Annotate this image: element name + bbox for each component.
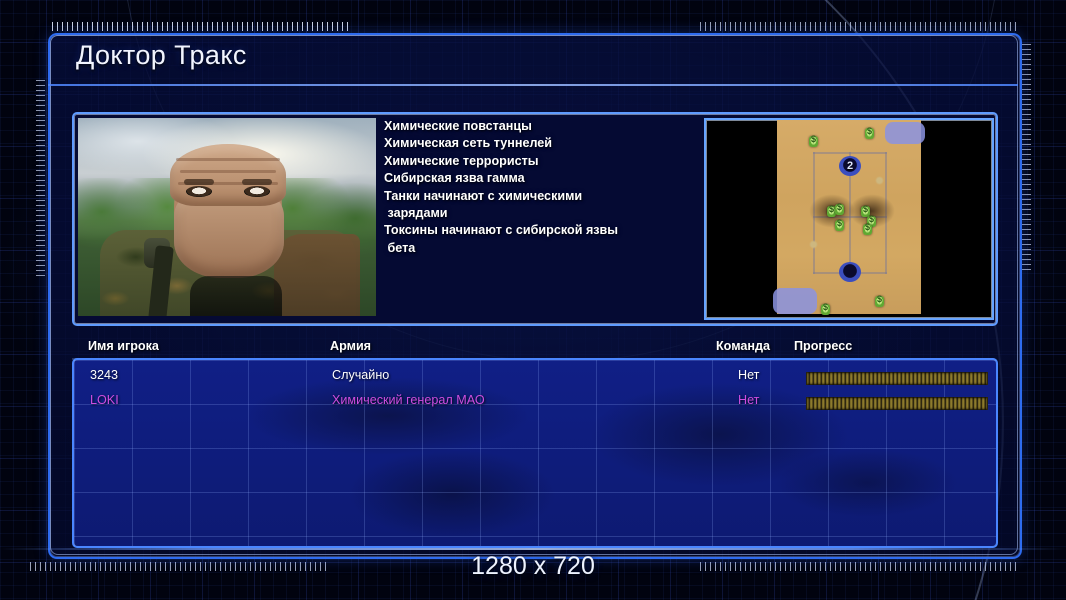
portrait-eyes <box>182 184 276 200</box>
ruler-right <box>1022 44 1031 274</box>
ruler-top-right <box>700 22 1018 31</box>
portrait-shoulder <box>274 234 360 316</box>
minimap-water <box>773 288 817 314</box>
table-row[interactable]: 3243 Случайно Нет <box>74 368 996 390</box>
description-line: Химическая сеть туннелей <box>384 135 696 152</box>
page-title: Доктор Тракс <box>76 40 247 71</box>
footer-divider <box>0 548 1066 550</box>
portrait-eye-right <box>244 186 270 197</box>
resolution-label: 1280 x 720 <box>0 552 1066 581</box>
title-divider <box>48 84 1018 86</box>
description-line: зарядами <box>384 205 696 222</box>
minimap-rock <box>809 240 818 249</box>
portrait-brow-right <box>242 179 272 185</box>
minimap-resource <box>835 204 844 215</box>
minimap-resource <box>865 128 874 139</box>
description-line: Химические террористы <box>384 153 696 170</box>
player-list-panel: 3243 Случайно Нет LOKI Химический генера… <box>72 358 998 548</box>
ruler-left <box>36 80 45 280</box>
minimap-resource <box>875 296 884 307</box>
minimap-start-position-1 <box>839 262 861 282</box>
cell-player-name: LOKI <box>90 393 119 407</box>
portrait-brow-left <box>184 179 214 185</box>
cell-army[interactable]: Химический генерал МАО <box>332 393 485 407</box>
game-lobby-screen: Доктор Тракс Химические повстанцы Химиче… <box>0 0 1066 600</box>
column-header-team: Команда <box>716 339 770 353</box>
minimap-terrain: 2 <box>777 120 921 314</box>
cell-team[interactable]: Нет <box>738 368 759 382</box>
progress-bar <box>806 397 988 410</box>
minimap-water <box>885 122 925 144</box>
description-line: Токсины начинают с сибирской язвы <box>384 222 696 239</box>
general-description: Химические повстанцы Химическая сеть тун… <box>384 118 696 316</box>
general-portrait-image <box>78 118 376 316</box>
progress-bar <box>806 372 988 385</box>
column-header-progress: Прогресс <box>794 339 852 353</box>
minimap-preview[interactable]: 2 <box>704 118 994 320</box>
portrait-eye-left <box>186 186 212 197</box>
minimap-start-position-2: 2 <box>839 156 861 176</box>
title-bar: Доктор Тракс <box>48 33 1018 83</box>
description-line: Химические повстанцы <box>384 118 696 135</box>
column-header-player: Имя игрока <box>88 339 159 353</box>
description-line: бета <box>384 240 696 257</box>
description-line: Танки начинают с химическими <box>384 188 696 205</box>
cell-team[interactable]: Нет <box>738 393 759 407</box>
cell-army[interactable]: Случайно <box>332 368 389 382</box>
portrait-shadow <box>190 276 282 316</box>
minimap-resource <box>863 224 872 235</box>
column-header-army: Армия <box>330 339 371 353</box>
minimap-rock <box>875 176 884 185</box>
minimap-resource <box>809 136 818 147</box>
ruler-top-left <box>52 22 352 31</box>
player-table-header: Имя игрока Армия Команда Прогресс <box>72 339 994 357</box>
table-row[interactable]: LOKI Химический генерал МАО Нет <box>74 393 996 415</box>
cell-player-name: 3243 <box>90 368 118 382</box>
minimap-resource <box>821 304 830 315</box>
description-line: Сибирская язва гамма <box>384 170 696 187</box>
minimap-resource <box>835 220 844 231</box>
